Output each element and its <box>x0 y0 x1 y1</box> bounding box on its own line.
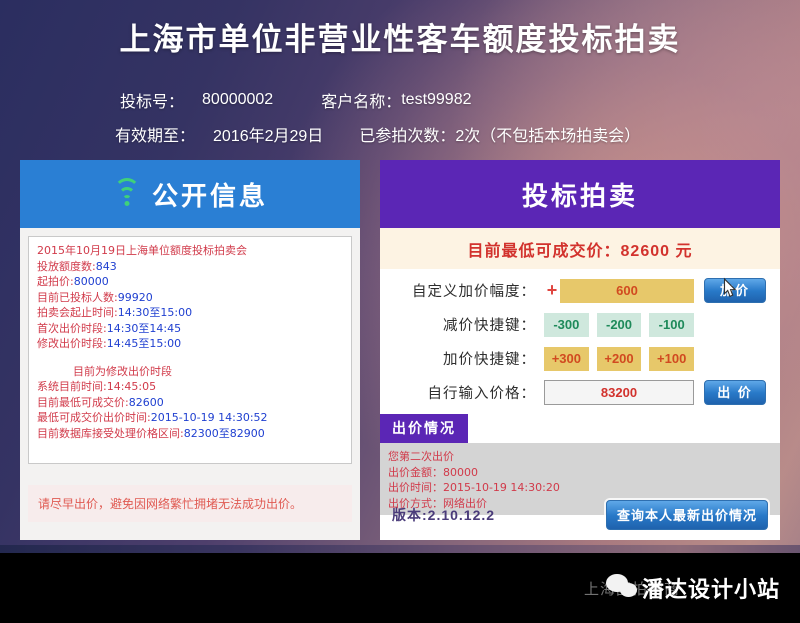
info-value: 99920 <box>118 291 153 304</box>
submit-bid-button[interactable]: 出 价 <box>704 380 766 405</box>
bid-number-value: 80000002 <box>202 91 273 109</box>
bid-form: 自定义加价幅度： + 600 加价 减价快捷键： -300 -200 <box>380 269 780 408</box>
info-label: 首次出价时段: <box>37 322 107 335</box>
info-line: 目前已投标人数:99920 <box>37 290 343 306</box>
increase-shortcut-label: 加价快捷键： <box>394 348 544 369</box>
version-label: 版本:2.10.12.2 <box>392 505 495 525</box>
attendance-value: 2次（不包括本场拍卖会） <box>455 122 640 146</box>
watermark: 上海国拍网商 潘达设计小站 <box>584 571 780 605</box>
increase-price-button[interactable]: 加价 <box>704 278 766 303</box>
status-line: 出价金额：80000 <box>388 465 772 481</box>
manual-price-input[interactable]: 83200 <box>544 380 694 405</box>
bidding-header: 投标拍卖 <box>380 160 780 228</box>
status-label: 出价金额： <box>388 466 443 479</box>
info-line: 最低可成交价出价时间:2015-10-19 14:30:52 <box>37 410 343 426</box>
increase-shortcut-group: +300 +200 +100 <box>544 347 694 371</box>
header-meta-row-1: 投标号： 80000002 客户名称： test99982 <box>0 88 800 112</box>
header-meta-row-2: 有效期至： 2016年2月29日 已参拍次数： 2次（不包括本场拍卖会） <box>0 122 800 146</box>
validity-value: 2016年2月29日 <box>213 122 323 146</box>
public-info-body: 2015年10月19日上海单位额度投标拍卖会 投放额度数:843 起拍价:800… <box>20 228 360 540</box>
public-info-panel: 公开信息 2015年10月19日上海单位额度投标拍卖会 投放额度数:843 起拍… <box>20 160 360 540</box>
decrease-200-button[interactable]: -200 <box>597 313 642 337</box>
status-line: 您第二次出价 <box>388 449 772 465</box>
custom-increment-label: 自定义加价幅度： <box>394 280 544 301</box>
watermark-main-text: 潘达设计小站 <box>642 572 780 604</box>
decrease-shortcut-group: -300 -200 -100 <box>544 313 694 337</box>
info-label: 投放额度数: <box>37 260 96 273</box>
info-value: 14:45:05 <box>107 380 156 393</box>
info-line: 起拍价:80000 <box>37 274 343 290</box>
info-label: 系统目前时间: <box>37 380 107 393</box>
auction-screen: 上海市单位非营业性客车额度投标拍卖 投标号： 80000002 客户名称： te… <box>0 0 800 623</box>
current-price-label: 目前最低可成交价： <box>468 243 621 260</box>
custom-increment-row: 自定义加价幅度： + 600 加价 <box>394 275 766 306</box>
info-value: 80000 <box>74 275 109 288</box>
status-label: 出价时间： <box>388 481 443 494</box>
current-price-value: 82600 <box>621 243 671 260</box>
info-label: 目前最低可成交价: <box>37 396 129 409</box>
info-label: 目前数据库接受处理价格区间: <box>37 427 184 440</box>
customer-name-value: test99982 <box>401 91 471 109</box>
page-title: 上海市单位非营业性客车额度投标拍卖 <box>0 14 800 59</box>
increase-300-button[interactable]: +300 <box>544 347 589 371</box>
info-line: 拍卖会起止时间:14:30至15:00 <box>37 305 343 321</box>
validity-label: 有效期至： <box>115 122 195 146</box>
status-label: 您第二次出价 <box>388 450 454 463</box>
plus-sign-icon: + <box>544 280 560 301</box>
info-label: 起拍价: <box>37 275 74 288</box>
info-line: 目前最低可成交价:82600 <box>37 395 343 411</box>
current-price-unit: 元 <box>675 243 692 260</box>
info-value: 82600 <box>129 396 164 409</box>
manual-price-row: 自行输入价格： 83200 出 价 <box>394 377 766 408</box>
bid-status-tab: 出价情况 <box>380 414 468 443</box>
bidding-panel: 投标拍卖 目前最低可成交价：82600 元 自定义加价幅度： + 600 加价 <box>380 160 780 540</box>
info-line: 首次出价时段:14:30至14:45 <box>37 321 343 337</box>
public-info-heading: 公开信息 <box>152 176 268 213</box>
public-info-header: 公开信息 <box>20 160 360 228</box>
info-label: 修改出价时段: <box>37 337 107 350</box>
bidding-footer: 版本:2.10.12.2 查询本人最新出价情况 <box>380 500 780 530</box>
info-spacer <box>37 352 343 364</box>
info-label: 拍卖会起止时间: <box>37 306 118 319</box>
decrease-shortcut-label: 减价快捷键： <box>394 314 544 335</box>
bid-number-label: 投标号： <box>120 88 184 112</box>
increase-200-button[interactable]: +200 <box>597 347 642 371</box>
decrease-100-button[interactable]: -100 <box>649 313 694 337</box>
decrease-300-button[interactable]: -300 <box>544 313 589 337</box>
info-value: 14:30至14:45 <box>107 322 181 335</box>
increase-100-button[interactable]: +100 <box>649 347 694 371</box>
customer-name-label: 客户名称： <box>321 88 401 112</box>
current-lowest-price: 目前最低可成交价：82600 元 <box>380 228 780 269</box>
status-value: 80000 <box>443 466 478 479</box>
bid-early-notice: 请尽早出价，避免因网络繁忙拥堵无法成功出价。 <box>28 485 352 522</box>
info-line: 系统目前时间:14:45:05 <box>37 379 343 395</box>
wifi-icon <box>112 182 142 206</box>
info-line: 修改出价时段:14:45至15:00 <box>37 336 343 352</box>
query-latest-bid-button[interactable]: 查询本人最新出价情况 <box>606 500 768 530</box>
status-line: 出价时间：2015-10-19 14:30:20 <box>388 480 772 496</box>
auction-info-box: 2015年10月19日上海单位额度投标拍卖会 投放额度数:843 起拍价:800… <box>28 236 352 464</box>
info-line: 2015年10月19日上海单位额度投标拍卖会 <box>37 243 343 259</box>
bid-status-header: 出价情况 <box>380 414 780 443</box>
status-value: 2015-10-19 14:30:20 <box>443 481 560 494</box>
phase-text: 目前为修改出价时段 <box>37 364 343 380</box>
manual-price-label: 自行输入价格： <box>394 382 544 403</box>
info-value: 14:30至15:00 <box>118 306 192 319</box>
info-line: 投放额度数:843 <box>37 259 343 275</box>
attendance-label: 已参拍次数： <box>359 122 455 146</box>
info-label: 2015年10月19日上海单位额度投标拍卖会 <box>37 244 247 257</box>
bidding-body: 目前最低可成交价：82600 元 自定义加价幅度： + 600 加价 减价快捷键… <box>380 228 780 540</box>
info-value: 82300至82900 <box>184 427 265 440</box>
info-value: 14:45至15:00 <box>107 337 181 350</box>
decrease-shortcut-row: 减价快捷键： -300 -200 -100 <box>394 309 766 340</box>
info-label: 最低可成交价出价时间: <box>37 411 151 424</box>
info-label: 目前已投标人数: <box>37 291 118 304</box>
increase-price-button-label: 加价 <box>720 283 750 298</box>
bidding-heading: 投标拍卖 <box>522 176 638 213</box>
bottom-strip <box>0 545 800 553</box>
increase-shortcut-row: 加价快捷键： +300 +200 +100 <box>394 343 766 374</box>
wechat-icon <box>606 574 640 602</box>
info-value: 843 <box>96 260 117 273</box>
info-line: 目前数据库接受处理价格区间:82300至82900 <box>37 426 343 442</box>
info-value: 2015-10-19 14:30:52 <box>151 411 268 424</box>
custom-increment-input[interactable]: 600 <box>560 279 694 303</box>
